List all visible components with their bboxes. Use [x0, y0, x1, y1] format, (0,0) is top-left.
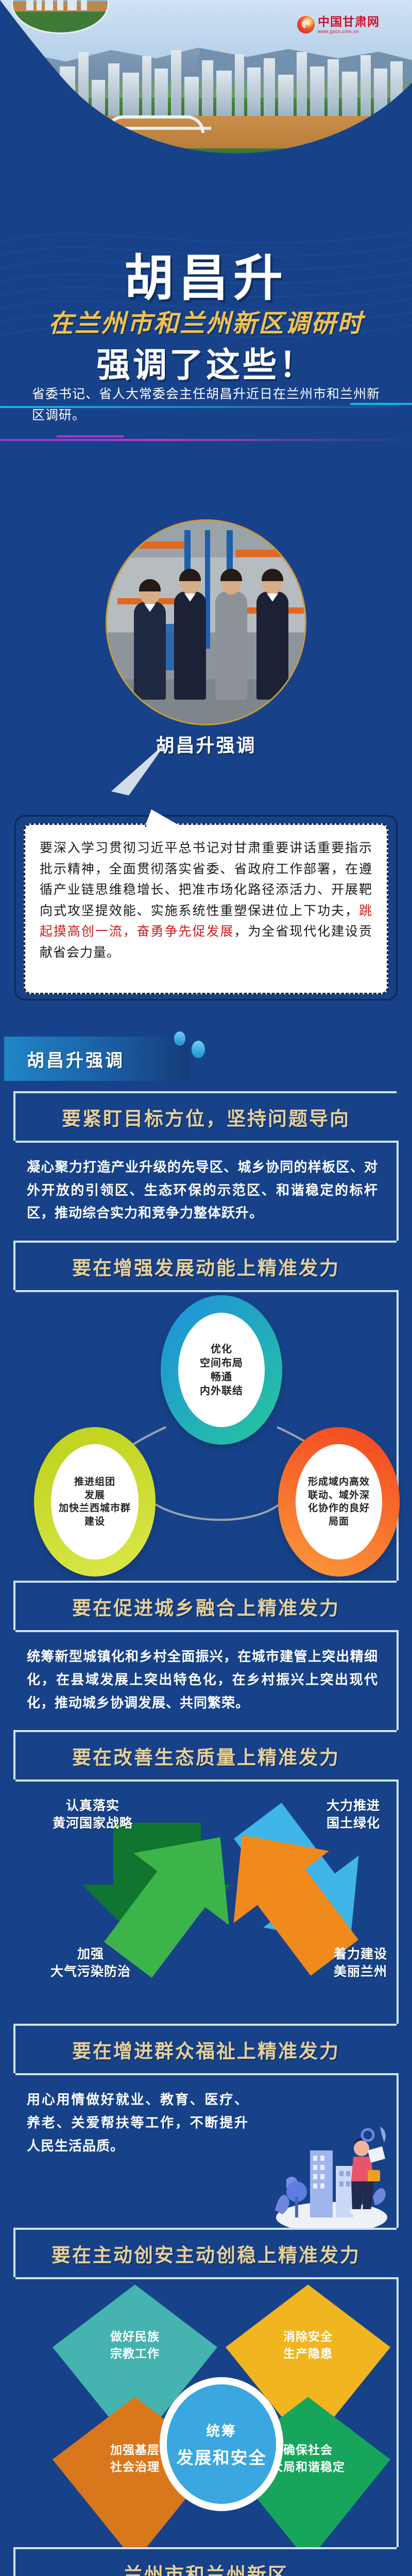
section-4-heading-frame: 要在改善生态质量上精准发力 [13, 1730, 397, 1780]
arrow-label-bottom-left: 加强大气污染防治 [34, 1945, 147, 1980]
hero-section: 中国甘肃网 www.gscn.com.cn 胡昌升 在兰州市和兰州新区调研时 强… [0, 0, 412, 515]
section-badge-row: 胡昌升强调 [0, 1025, 412, 1091]
swirl-logo-icon [297, 16, 315, 33]
inspection-photo-section: 胡昌升强调 [0, 515, 412, 804]
section-3-heading-frame: 要在促进城乡融合上精准发力 [13, 1581, 397, 1630]
section-3-heading: 要在促进城乡融合上精准发力 [72, 1592, 340, 1620]
section-6: 要在主动创安主动创稳上精准发力 做好民族宗教工作 消除安全生产隐患 加强基层社会… [0, 2228, 412, 2547]
section-5: 要在增进群众福祉上精准发力 用心用情做好就业、教育、医疗、养老、关爱帮扶等工作，… [0, 2024, 412, 2228]
node-circle-left: 推进组团发展加快兰西城市群建设 [34, 1427, 156, 1577]
core-line-2: 发展和安全 [177, 2444, 267, 2469]
safety-diamonds-diagram: 做好民族宗教工作 消除安全生产隐患 加强基层社会治理 确保社会大局和谐稳定 统筹… [15, 2279, 412, 2547]
section-7: 兰州市和兰州新区 要把强省会作为必答之问、必考之题，强化压力传导做到肩上有责，强… [0, 2547, 412, 2576]
arrow-label-bottom-right: 着力建设美丽兰州 [309, 1945, 412, 1980]
quote-section: 要深入学习贯彻习近平总书记对甘肃重要讲话重要指示批示精神，全面贯彻落实省委、省政… [0, 804, 412, 1025]
lede-paragraph: 省委书记、省人大常委会主任胡昌升近日在兰州市和兰州新区调研。 [32, 384, 382, 427]
node-circle-top: 优化空间布局畅通内外联结 [161, 1295, 282, 1445]
logo-url: www.gscn.com.cn [318, 29, 380, 34]
section-4: 要在改善生态质量上精准发力 认真落实黄河国家战略 大力推进国土绿化 加强大气污染… [0, 1730, 412, 2024]
diamond-core: 统筹 发展和安全 [160, 2377, 283, 2511]
bubble-decor-large [192, 1041, 205, 1058]
divider-purple [0, 439, 412, 441]
bubble-decor-small [174, 1031, 185, 1046]
node-top-label: 优化空间布局畅通内外联结 [178, 1313, 265, 1427]
section-2: 要在增强发展动能上精准发力 优化空间布局畅通内外联结 推进组团发展加快兰西城市群… [0, 1241, 412, 1581]
section-6-heading-frame: 要在主动创安主动创稳上精准发力 [13, 2228, 397, 2277]
page-title-emphasis: 强调了这些！ [0, 337, 412, 387]
section-5-body: 用心用情做好就业、教育、医疗、养老、关爱帮扶等工作，不断提升人民生活品质。 [27, 2089, 248, 2158]
section-badge: 胡昌升强调 [4, 1037, 190, 1081]
section-4-body-frame: 认真落实黄河国家战略 大力推进国土绿化 加强大气污染防治 着力建设美丽兰州 [15, 1780, 399, 2024]
development-momentum-diagram: 优化空间布局畅通内外联结 推进组团发展加快兰西城市群建设 形成域内高效联动、域外… [15, 1292, 412, 1581]
arrow-label-top-left: 认真落实黄河国家战略 [36, 1797, 149, 1832]
arrow-label-top-right: 大力推进国土绿化 [302, 1797, 405, 1832]
section-5-heading: 要在增进群众福祉上精准发力 [72, 2036, 340, 2063]
node-right-label: 形成域内高效联动、域外深化协作的良好局面 [296, 1444, 382, 1560]
section-4-heading: 要在改善生态质量上精准发力 [72, 1742, 340, 1770]
section-1-heading-frame: 要紧盯目标方位，坚持问题导向 [13, 1091, 397, 1141]
section-6-body-frame: 做好民族宗教工作 消除安全生产隐患 加强基层社会治理 确保社会大局和谐稳定 统筹… [15, 2277, 399, 2547]
diamond-label-3: 加强基层社会治理 [110, 2442, 160, 2562]
section-5-body-frame: 用心用情做好就业、教育、医疗、养老、关爱帮扶等工作，不断提升人民生活品质。 [15, 2073, 399, 2228]
section-2-body-frame: 优化空间布局畅通内外联结 推进组团发展加快兰西城市群建设 形成域内高效联动、域外… [15, 1290, 399, 1581]
section-1-heading: 要紧盯目标方位，坚持问题导向 [62, 1103, 350, 1131]
section-2-heading-frame: 要在增强发展动能上精准发力 [13, 1241, 397, 1290]
section-1-body: 凝心聚力打造产业升级的先导区、城乡协同的样板区、对外开放的引领区、生态环保的示范… [27, 1156, 378, 1225]
quote-text: 要深入学习贯彻习近平总书记对甘肃重要讲话重要指示批示精神，全面贯彻落实省委、省政… [40, 838, 372, 963]
section-1-body-frame: 凝心聚力打造产业升级的先导区、城乡协同的样板区、对外开放的引领区、生态环保的示范… [15, 1141, 399, 1241]
node-left-label: 推进组团发展加快兰西城市群建设 [51, 1444, 139, 1560]
inspection-photo [106, 519, 306, 725]
quote-card: 要深入学习贯彻习近平总书记对甘肃重要讲话重要指示批示精神，全面贯彻落实省委、省政… [24, 823, 388, 994]
section-3: 要在促进城乡融合上精准发力 统筹新型城镇化和乡村全面振兴，在城市建管上突出精细化… [0, 1581, 412, 1730]
core-line-1: 统筹 [206, 2420, 237, 2440]
section-7-heading: 兰州市和兰州新区 [124, 2559, 288, 2576]
section-7-heading-frame: 兰州市和兰州新区 [13, 2547, 397, 2576]
photo-caption-badge: 胡昌升强调 [156, 731, 256, 757]
page-title: 胡昌升 [0, 238, 412, 310]
page-subtitle: 在兰州市和兰州新区调研时 [0, 303, 412, 339]
quote-part-1: 要深入学习贯彻习近平总书记对甘肃重要讲话重要指示批示精神，全面贯彻落实省委、省政… [40, 841, 372, 918]
section-3-body: 统筹新型城镇化和乡村全面振兴，在城市建管上突出精细化，在县域发展上突出特色化，在… [27, 1646, 378, 1715]
section-badge-label: 胡昌升强调 [27, 1046, 125, 1072]
section-3-body-frame: 统筹新型城镇化和乡村全面振兴，在城市建管上突出精细化，在县域发展上突出特色化，在… [15, 1630, 399, 1730]
logo-name: 中国甘肃网 [318, 16, 380, 28]
city-worker-illustration [266, 2120, 389, 2238]
ecology-arrows-diagram: 认真落实黄河国家战略 大力推进国土绿化 加强大气污染防治 着力建设美丽兰州 [15, 1782, 412, 2024]
section-6-heading: 要在主动创安主动创稳上精准发力 [51, 2240, 360, 2267]
node-circle-right: 形成域内高效联动、域外深化协作的良好局面 [278, 1427, 400, 1577]
diamond-label-4: 确保社会大局和谐稳定 [271, 2442, 345, 2562]
section-5-heading-frame: 要在增进群众福祉上精准发力 [13, 2024, 397, 2073]
section-2-heading: 要在增强发展动能上精准发力 [72, 1252, 340, 1280]
site-logo: 中国甘肃网 www.gscn.com.cn [297, 13, 403, 36]
section-1: 要紧盯目标方位，坚持问题导向 凝心聚力打造产业升级的先导区、城乡协同的样板区、对… [0, 1091, 412, 1241]
